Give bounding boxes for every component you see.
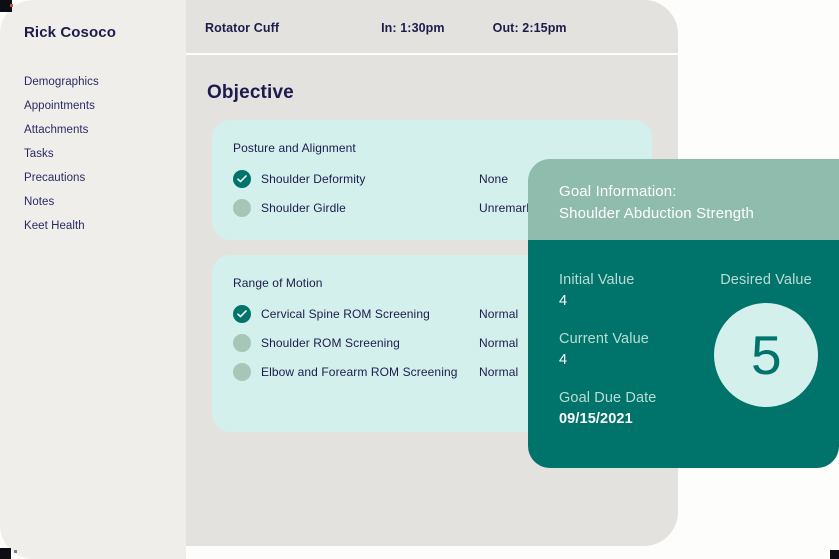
sidebar-item-notes[interactable]: Notes (24, 190, 186, 214)
sidebar-item-tasks[interactable]: Tasks (24, 142, 186, 166)
list-item-label: Shoulder Girdle (261, 201, 479, 215)
goal-card-title-line1: Goal Information: (559, 181, 839, 203)
sidebar-nav: Demographics Appointments Attachments Ta… (24, 70, 186, 238)
corner-mark-bottom-left (0, 548, 11, 559)
sidebar-item-keet-health[interactable]: Keet Health (24, 214, 186, 238)
sidebar-item-appointments[interactable]: Appointments (24, 94, 186, 118)
app-root: Rick Cosoco Demographics Appointments At… (0, 0, 839, 559)
patient-sidebar: Rick Cosoco Demographics Appointments At… (0, 0, 186, 559)
empty-circle-icon (233, 334, 251, 352)
goal-card-body: Initial Value 4 Current Value 4 Goal Due… (528, 240, 839, 468)
appointment-header: Rotator Cuff In: 1:30pm Out: 2:15pm (186, 0, 678, 55)
sidebar-item-demographics[interactable]: Demographics (24, 70, 186, 94)
corner-dot-bottom-left (14, 550, 17, 553)
page-title: Rick Cosoco (24, 22, 186, 44)
list-item-value: Normal (479, 336, 518, 350)
goal-desired-value-label: Desired Value (706, 270, 826, 291)
goal-due-date-value: 09/15/2021 (559, 409, 839, 430)
card-heading: Posture and Alignment (233, 141, 652, 155)
list-item-label: Shoulder Deformity (261, 172, 479, 186)
section-title-objective: Objective (186, 55, 678, 104)
empty-circle-icon (233, 363, 251, 381)
appointment-time-in: In: 1:30pm (381, 21, 445, 35)
goal-desired-value: 5 (751, 328, 781, 383)
list-item-label: Elbow and Forearm ROM Screening (261, 365, 479, 379)
list-item-label: Cervical Spine ROM Screening (261, 307, 479, 321)
goal-information-card: Goal Information: Shoulder Abduction Str… (528, 159, 839, 468)
list-item-value: Normal (479, 365, 518, 379)
goal-card-title-line2: Shoulder Abduction Strength (559, 203, 839, 225)
check-circle-icon (233, 170, 251, 188)
list-item-value: None (479, 172, 508, 186)
list-item-value: Normal (479, 307, 518, 321)
appointment-time-out: Out: 2:15pm (493, 21, 567, 35)
empty-circle-icon (233, 199, 251, 217)
appointment-title: Rotator Cuff (205, 21, 279, 35)
sidebar-item-precautions[interactable]: Precautions (24, 166, 186, 190)
sidebar-item-attachments[interactable]: Attachments (24, 118, 186, 142)
goal-card-header: Goal Information: Shoulder Abduction Str… (528, 159, 839, 240)
corner-mark-bottom-right (830, 550, 839, 559)
corner-dot-top-left (10, 4, 13, 7)
check-circle-icon (233, 305, 251, 323)
list-item-label: Shoulder ROM Screening (261, 336, 479, 350)
goal-desired-value-badge: 5 (714, 303, 818, 407)
goal-desired-value-block: Desired Value 5 (706, 270, 826, 407)
